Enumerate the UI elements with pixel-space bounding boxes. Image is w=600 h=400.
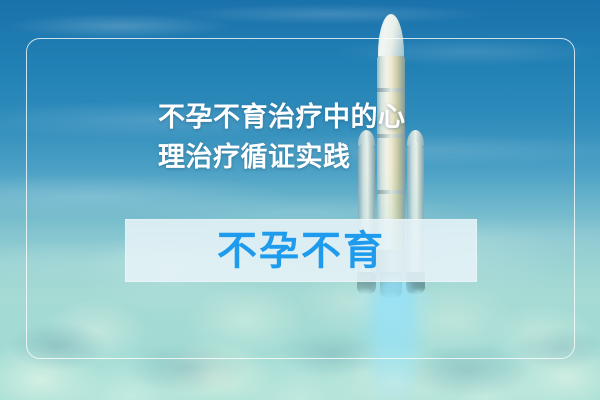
keyword-highlight-box: 不孕不育: [125, 219, 477, 282]
headline-line-1: 不孕不育治疗中的心: [158, 98, 458, 138]
banner-image: 不孕不育治疗中的心 理治疗循证实践 不孕不育: [0, 0, 600, 400]
headline-line-2: 理治疗循证实践: [158, 138, 458, 178]
rocket-band: [377, 88, 405, 92]
headline-text: 不孕不育治疗中的心 理治疗循证实践: [158, 98, 458, 178]
keyword-text: 不孕不育: [217, 231, 385, 271]
exhaust-glow: [372, 274, 416, 400]
rocket-nose-cone: [378, 14, 404, 60]
